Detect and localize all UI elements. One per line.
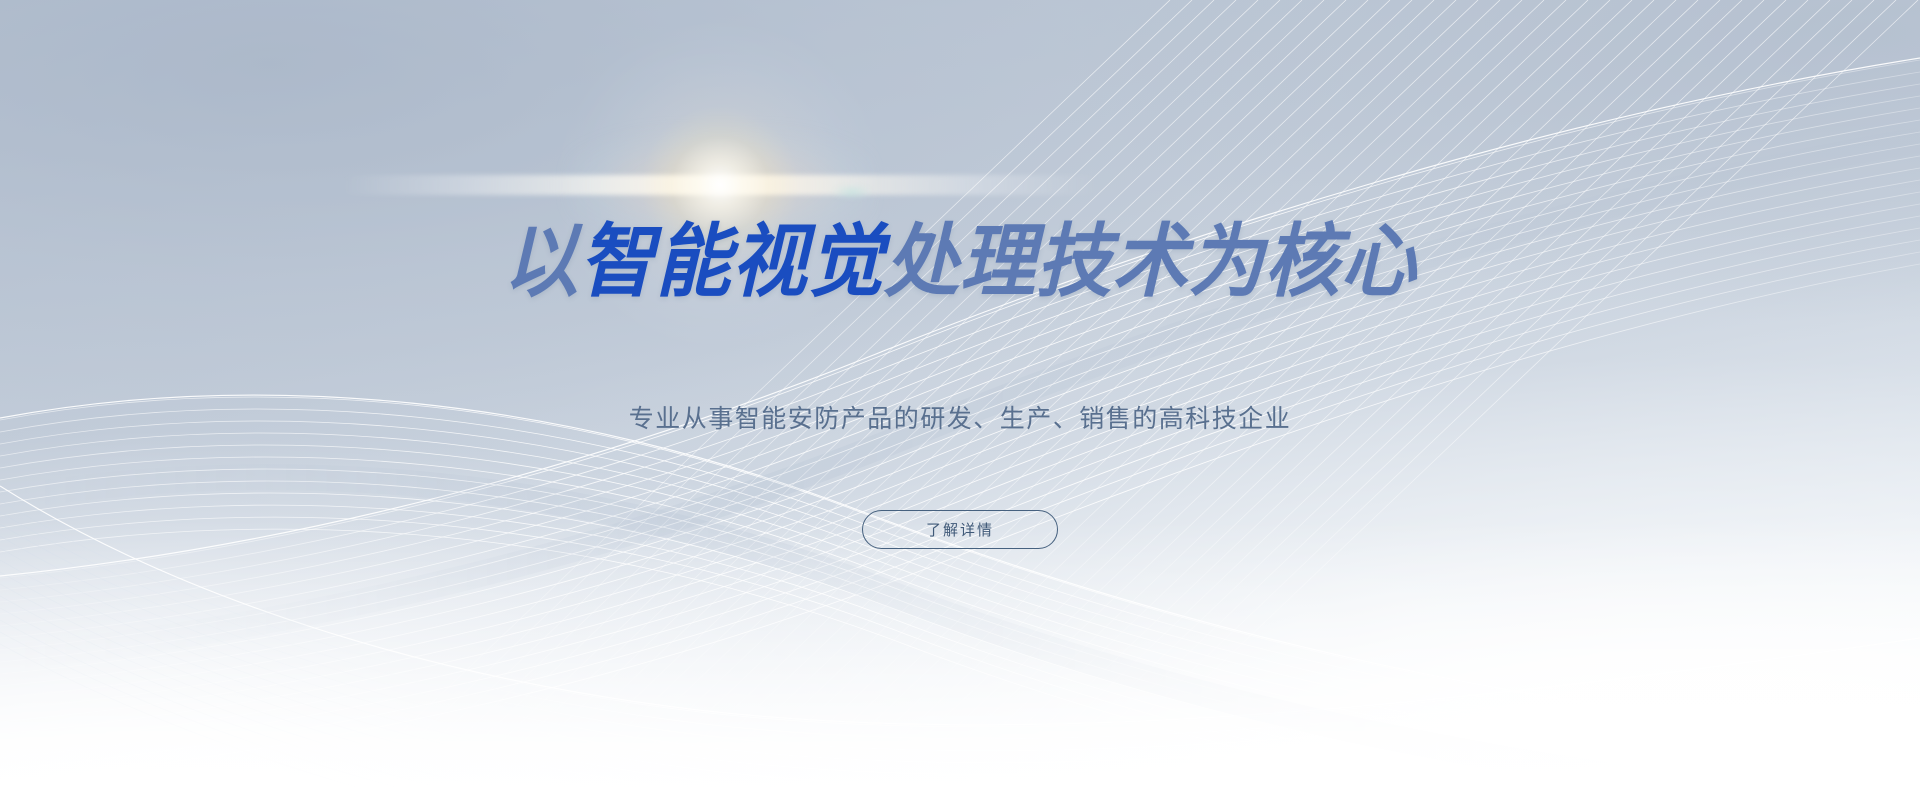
learn-more-button[interactable]: 了解详情 bbox=[862, 510, 1058, 549]
page-subtitle: 专业从事智能安防产品的研发、生产、销售的高科技企业 bbox=[0, 399, 1920, 435]
cta-container: 了解详情 bbox=[0, 510, 1920, 549]
headline-segment-1: 以 bbox=[503, 217, 579, 306]
headline-segment-3: 处理技术为核心 bbox=[884, 217, 1417, 306]
hero-content: 以智能视觉处理技术为核心 专业从事智能安防产品的研发、生产、销售的高科技企业 了… bbox=[0, 0, 1920, 800]
hero-banner: 以智能视觉处理技术为核心 专业从事智能安防产品的研发、生产、销售的高科技企业 了… bbox=[0, 0, 1920, 800]
headline-segment-2: 智能视觉 bbox=[579, 217, 884, 306]
page-title: 以智能视觉处理技术为核心 bbox=[58, 222, 1863, 302]
